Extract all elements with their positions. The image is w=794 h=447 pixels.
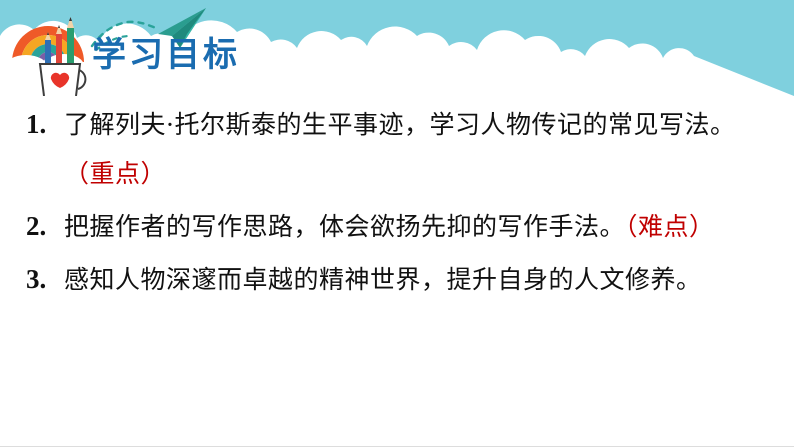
goal-line-2: 人文修养。 — [574, 265, 702, 294]
goal-line-2: 记的常见写法。 — [557, 110, 736, 139]
goal-line-2: 法。 — [574, 212, 625, 241]
goal-tag-key-point: （重点） — [64, 159, 166, 188]
list-item-number: 3. — [26, 255, 64, 304]
header-banner: 学习目标 — [0, 0, 794, 96]
list-item: 2. 把握作者的写作思路，体会欲扬先抑的写作手法。（难点） — [0, 202, 794, 251]
goal-line-1: 感知人物深邃而卓越的精神世界，提升自身的 — [64, 265, 574, 294]
list-item: 1. 了解列夫·托尔斯泰的生平事迹，学习人物传记的常见写法。（重点） — [0, 100, 794, 198]
goal-line-1: 了解列夫·托尔斯泰的生平事迹，学习人物传 — [64, 110, 557, 139]
list-item-number: 2. — [26, 202, 64, 251]
cup-icon — [40, 64, 85, 96]
list-item: 3. 感知人物深邃而卓越的精神世界，提升自身的人文修养。 — [0, 255, 794, 304]
list-item-text: 了解列夫·托尔斯泰的生平事迹，学习人物传记的常见写法。（重点） — [64, 100, 794, 198]
list-item-number: 1. — [26, 100, 64, 149]
pencil-green-icon — [67, 17, 74, 68]
page-title: 学习目标 — [92, 38, 240, 72]
goal-line-1: 把握作者的写作思路，体会欲扬先抑的写作手 — [64, 212, 574, 241]
pencil-red-icon — [56, 25, 62, 68]
list-item-text: 感知人物深邃而卓越的精神世界，提升自身的人文修养。 — [64, 255, 794, 304]
slide-canvas: 学习目标 1. 了解列夫·托尔斯泰的生平事迹，学习人物传记的常见写法。（重点） … — [0, 0, 794, 447]
goal-tag-difficult-point: （难点） — [625, 212, 715, 241]
learning-goals-list: 1. 了解列夫·托尔斯泰的生平事迹，学习人物传记的常见写法。（重点） 2. 把握… — [0, 100, 794, 308]
list-item-text: 把握作者的写作思路，体会欲扬先抑的写作手法。（难点） — [64, 202, 794, 251]
